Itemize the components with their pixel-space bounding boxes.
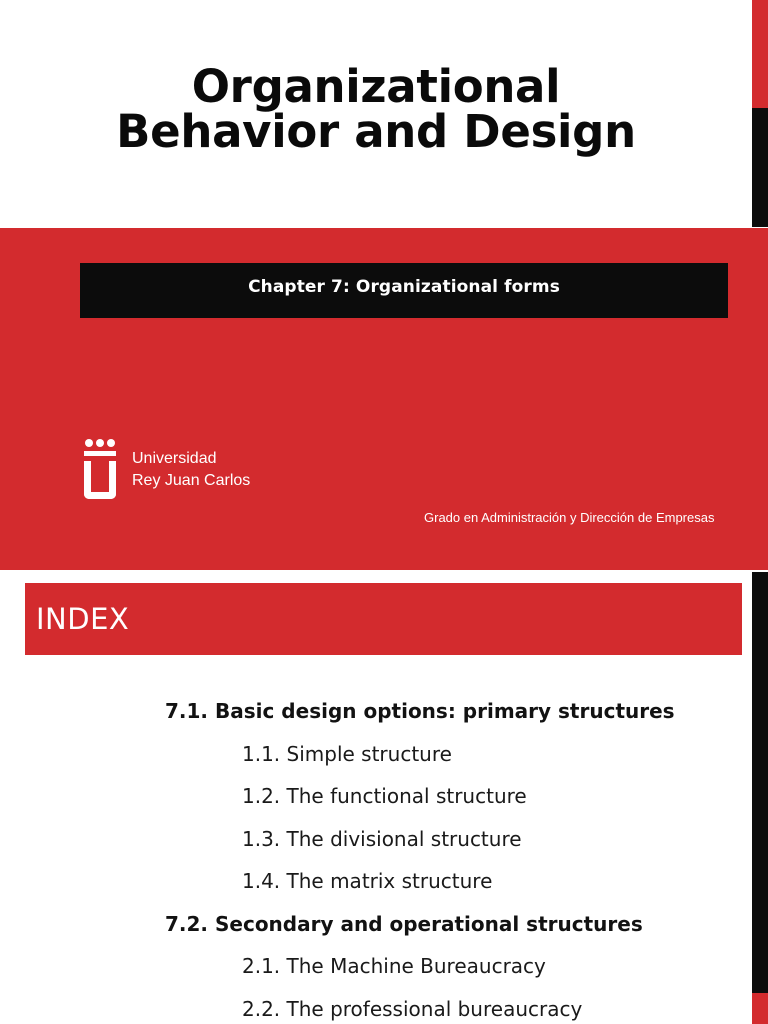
right-strip-top-red <box>752 0 768 108</box>
index-row: 7.2. Secondary and operational structure… <box>0 903 752 946</box>
index-row: 1.4. The matrix structure <box>0 860 752 903</box>
index-row: 1.3. The divisional structure <box>0 818 752 861</box>
urjc-logo-bar <box>84 451 116 456</box>
page-title-line-1: Organizational <box>116 64 636 109</box>
right-strip-bottom-red <box>752 993 768 1024</box>
index-sub-item[interactable]: 2.2. The professional bureaucracy <box>242 997 582 1021</box>
urjc-logo-line-2: Rey Juan Carlos <box>132 470 250 492</box>
index-sub-item[interactable]: 1.2. The functional structure <box>242 784 527 808</box>
index-section-heading[interactable]: 7.2. Secondary and operational structure… <box>165 912 643 936</box>
index-row: 1.2. The functional structure <box>0 775 752 818</box>
urjc-crown-u-icon <box>82 437 118 503</box>
degree-caption: Grado en Administración y Dirección de E… <box>424 509 740 527</box>
page-title: Organizational Behavior and Design <box>116 64 636 154</box>
urjc-logo-u-shape <box>84 461 116 499</box>
index-sub-item[interactable]: 1.3. The divisional structure <box>242 827 522 851</box>
index-row: 2.2. The professional bureaucracy <box>0 988 752 1024</box>
slide-page: Organizational Behavior and Design Chapt… <box>0 0 768 1024</box>
index-row: 1.1. Simple structure <box>0 733 752 776</box>
index-list: 7.1. Basic design options: primary struc… <box>0 690 752 1024</box>
hero-band: Chapter 7: Organizational forms Universi… <box>0 228 768 570</box>
index-heading: INDEX <box>36 602 129 636</box>
index-section-heading[interactable]: 7.1. Basic design options: primary struc… <box>165 699 675 723</box>
index-sub-item[interactable]: 2.1. The Machine Bureaucracy <box>242 954 546 978</box>
urjc-logo-dots <box>85 439 115 447</box>
chapter-title: Chapter 7: Organizational forms <box>248 277 560 297</box>
chapter-banner: Chapter 7: Organizational forms <box>80 263 728 318</box>
right-strip-bottom-black <box>752 572 768 993</box>
urjc-logo-wordmark: Universidad Rey Juan Carlos <box>132 448 250 492</box>
title-area: Organizational Behavior and Design <box>0 0 752 228</box>
urjc-logo-line-1: Universidad <box>132 448 250 470</box>
index-sub-item[interactable]: 1.4. The matrix structure <box>242 869 492 893</box>
index-row: 7.1. Basic design options: primary struc… <box>0 690 752 733</box>
urjc-logo: Universidad Rey Juan Carlos <box>82 437 250 503</box>
right-strip-top-black <box>752 108 768 227</box>
index-sub-item[interactable]: 1.1. Simple structure <box>242 742 452 766</box>
page-title-line-2: Behavior and Design <box>116 109 636 154</box>
index-header-bar: INDEX <box>25 583 742 655</box>
index-row: 2.1. The Machine Bureaucracy <box>0 945 752 988</box>
